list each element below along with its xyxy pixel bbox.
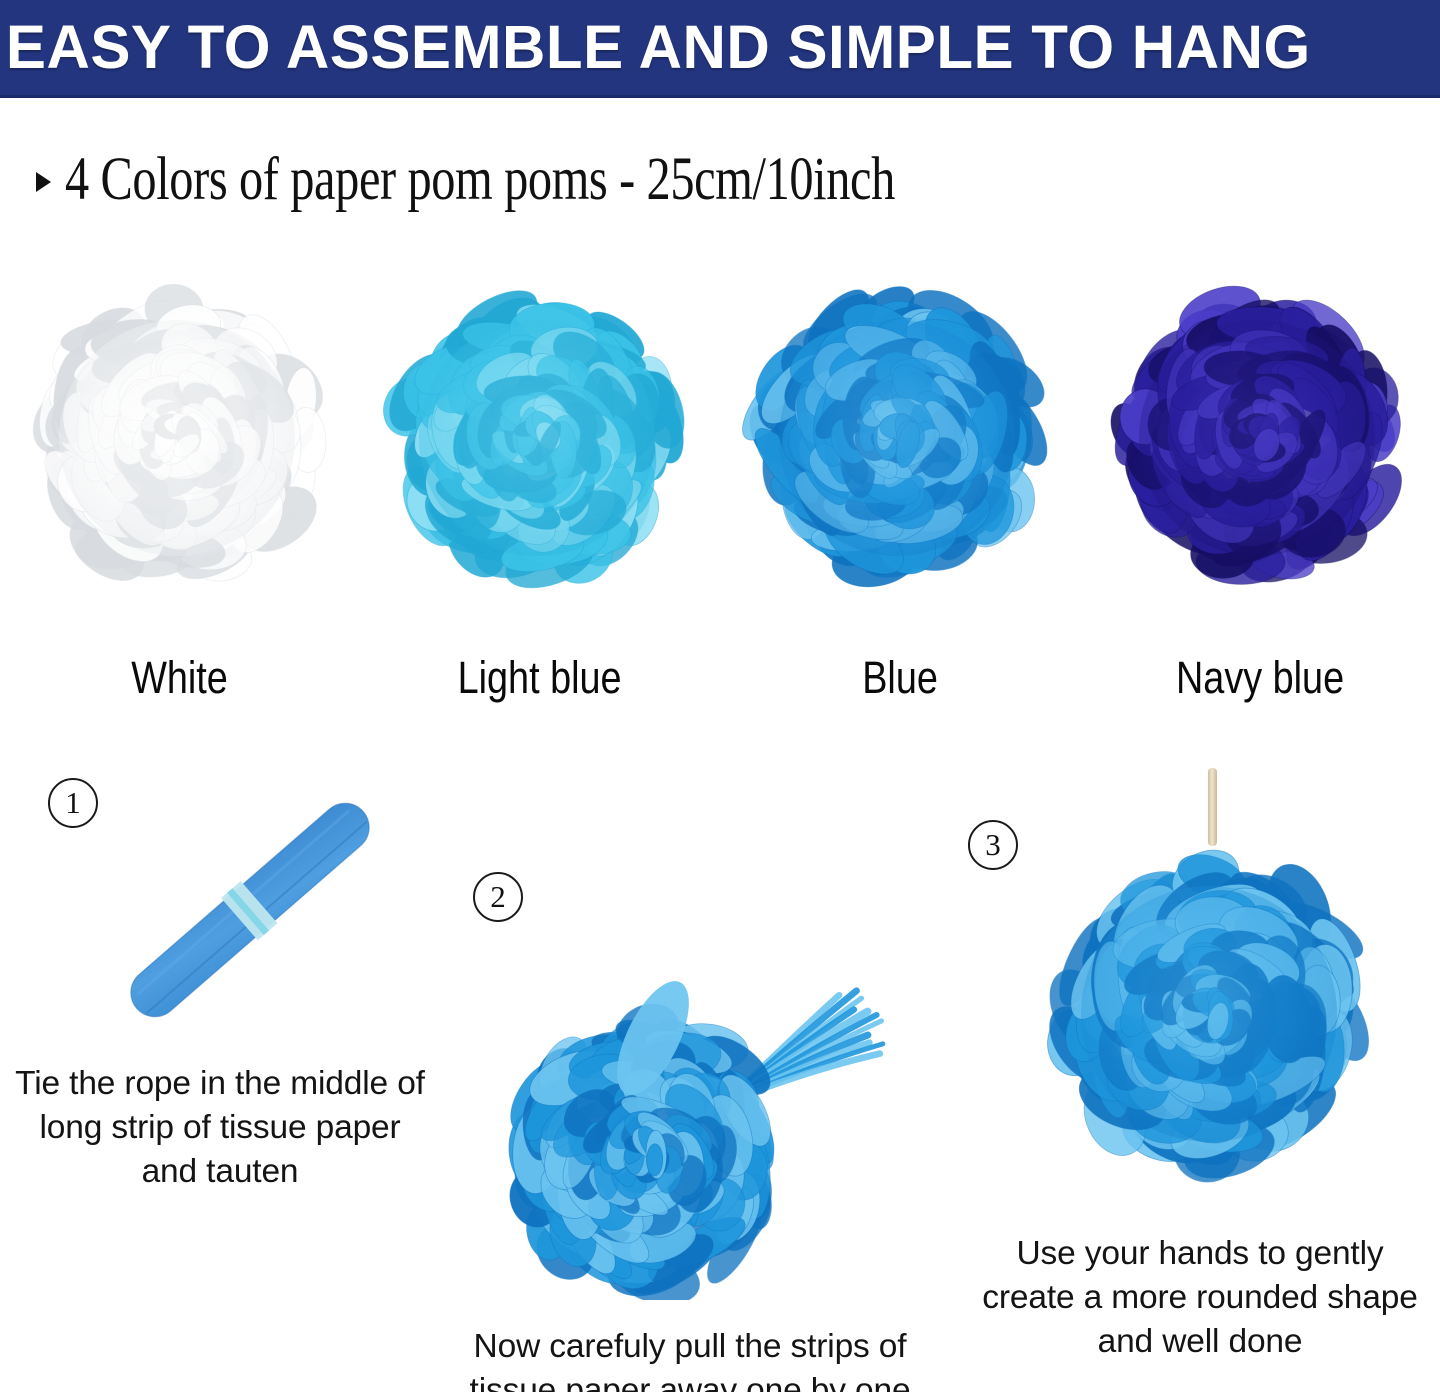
step-2-caption: Now carefuly pull the strips of tissue p… [435,1325,945,1392]
color-label: Navy blue [1176,652,1344,704]
step-3-caption: Use your hands to gently create a more r… [980,1232,1420,1365]
step-3: 3 [940,762,1420,1222]
hanging-pompom-image [1012,762,1412,1222]
pompom-white-image [5,268,355,618]
color-swatch-row: White Light blue [0,268,1440,704]
banner-title: EASY TO ASSEMBLE AND SIMPLE TO HANG [0,17,1311,78]
subtitle: 4 Colors of paper pom poms - 25cm/10inch [36,150,957,209]
step-number-badge: 2 [473,872,523,922]
step-1: 1 [0,760,440,1080]
color-label: White [132,652,229,704]
step-number-badge: 1 [48,778,98,828]
pompom-light-blue-image [365,268,715,618]
infographic-page: EASY TO ASSEMBLE AND SIMPLE TO HANG 4 Co… [0,0,1440,1392]
header-banner: EASY TO ASSEMBLE AND SIMPLE TO HANG [0,0,1440,98]
step-1-caption: Tie the rope in the middle of long strip… [10,1062,430,1195]
color-item-navy-blue: Navy blue [1080,268,1440,704]
step-2: 2 [455,860,925,1290]
color-item-light-blue: Light blue [360,268,720,704]
subtitle-text: 4 Colors of paper pom poms - 25cm/10inch [65,145,895,215]
color-label: Blue [862,652,938,704]
step-number-badge: 3 [968,820,1018,870]
color-item-blue: Blue [720,268,1080,704]
folded-tissue-strip-image [60,760,440,1060]
pompom-navy-blue-image [1085,268,1435,618]
color-item-white: White [0,268,360,704]
triangle-right-icon [36,172,51,192]
half-fluffed-pompom-image [495,920,915,1300]
color-label: Light blue [458,652,622,704]
pompom-blue-image [725,268,1075,618]
